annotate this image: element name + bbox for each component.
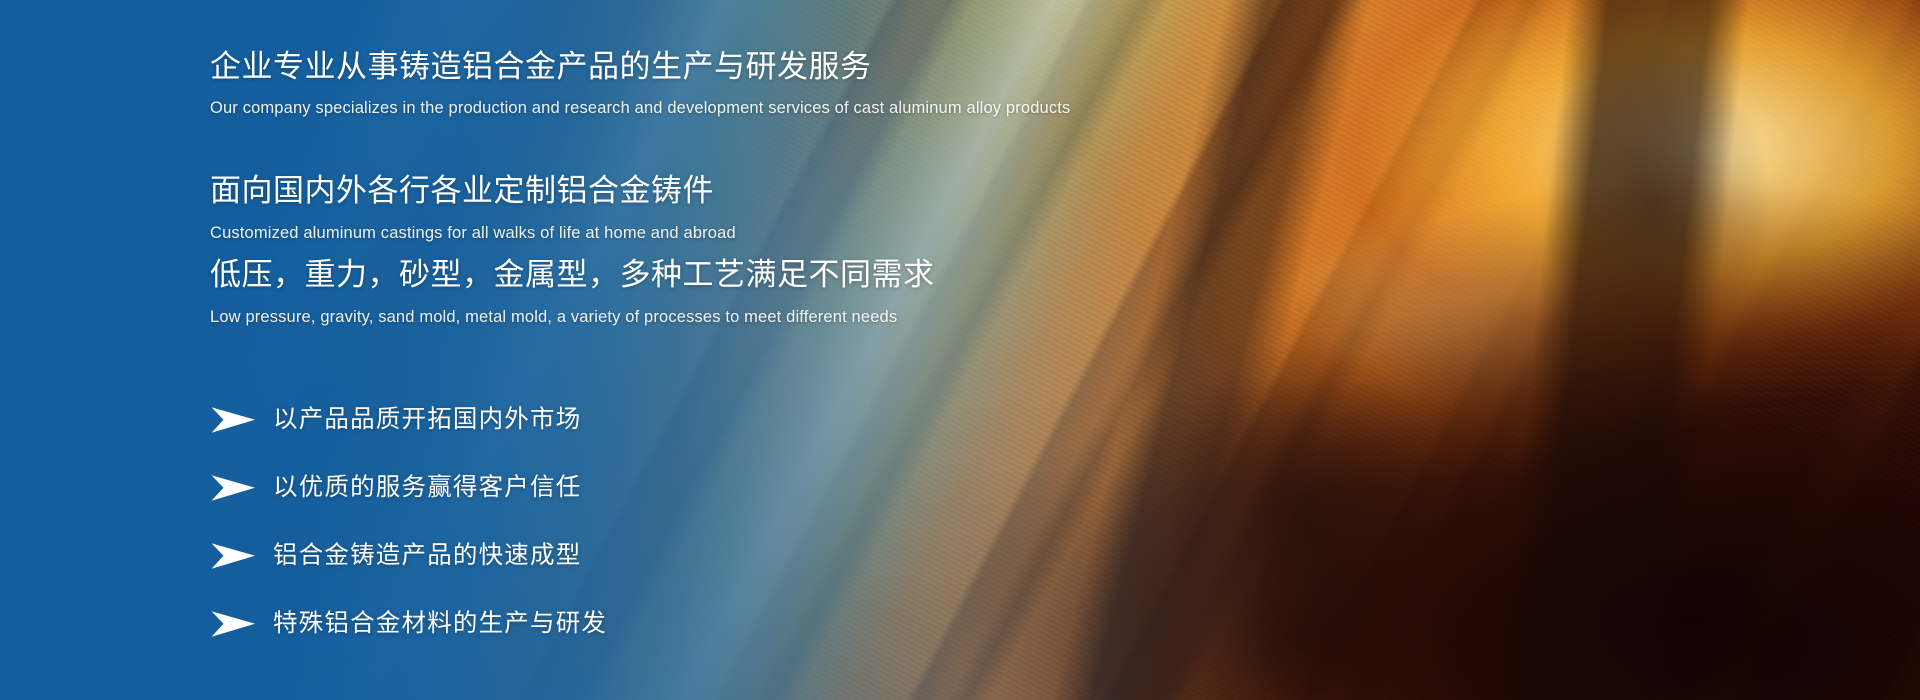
bullet-item-3[interactable]: 铝合金铸造产品的快速成型 <box>210 522 910 590</box>
headline-cn-2: 面向国内外各行各业定制铝合金铸件 <box>210 172 736 211</box>
feature-bullet-list: 以产品品质开拓国内外市场 以优质的服务赢得客户信任 铝合金铸造产品的快速成型 特… <box>210 386 910 658</box>
list-item-label: 特殊铝合金材料的生产与研发 <box>273 612 607 637</box>
headline-block-2: 面向国内外各行各业定制铝合金铸件 Customized aluminum cas… <box>210 172 736 244</box>
arrow-right-dart-icon <box>210 405 256 435</box>
list-item-label: 以产品品质开拓国内外市场 <box>273 408 581 433</box>
headline-block-1: 企业专业从事铸造铝合金产品的生产与研发服务 Our company specia… <box>210 48 1070 119</box>
arrow-right-dart-icon <box>210 541 256 571</box>
list-item-label: 铝合金铸造产品的快速成型 <box>273 544 581 569</box>
arrow-right-dart-icon <box>210 473 256 503</box>
list-item-label: 以优质的服务赢得客户信任 <box>273 476 581 501</box>
headline-en-1: Our company specializes in the productio… <box>210 98 1070 119</box>
promo-banner: 企业专业从事铸造铝合金产品的生产与研发服务 Our company specia… <box>0 0 1920 700</box>
headline-cn-3: 低压，重力，砂型，金属型，多种工艺满足不同需求 <box>210 256 935 295</box>
bullet-item-2[interactable]: 以优质的服务赢得客户信任 <box>210 454 910 522</box>
headline-cn-1: 企业专业从事铸造铝合金产品的生产与研发服务 <box>210 48 1070 87</box>
headline-en-2: Customized aluminum castings for all wal… <box>210 223 736 244</box>
headline-block-3: 低压，重力，砂型，金属型，多种工艺满足不同需求 Low pressure, gr… <box>210 256 935 328</box>
bullet-item-4[interactable]: 特殊铝合金材料的生产与研发 <box>210 590 910 658</box>
headline-en-3: Low pressure, gravity, sand mold, metal … <box>210 307 935 328</box>
banner-content: 企业专业从事铸造铝合金产品的生产与研发服务 Our company specia… <box>210 0 1310 700</box>
bullet-item-1[interactable]: 以产品品质开拓国内外市场 <box>210 386 910 454</box>
arrow-right-dart-icon <box>210 609 256 639</box>
